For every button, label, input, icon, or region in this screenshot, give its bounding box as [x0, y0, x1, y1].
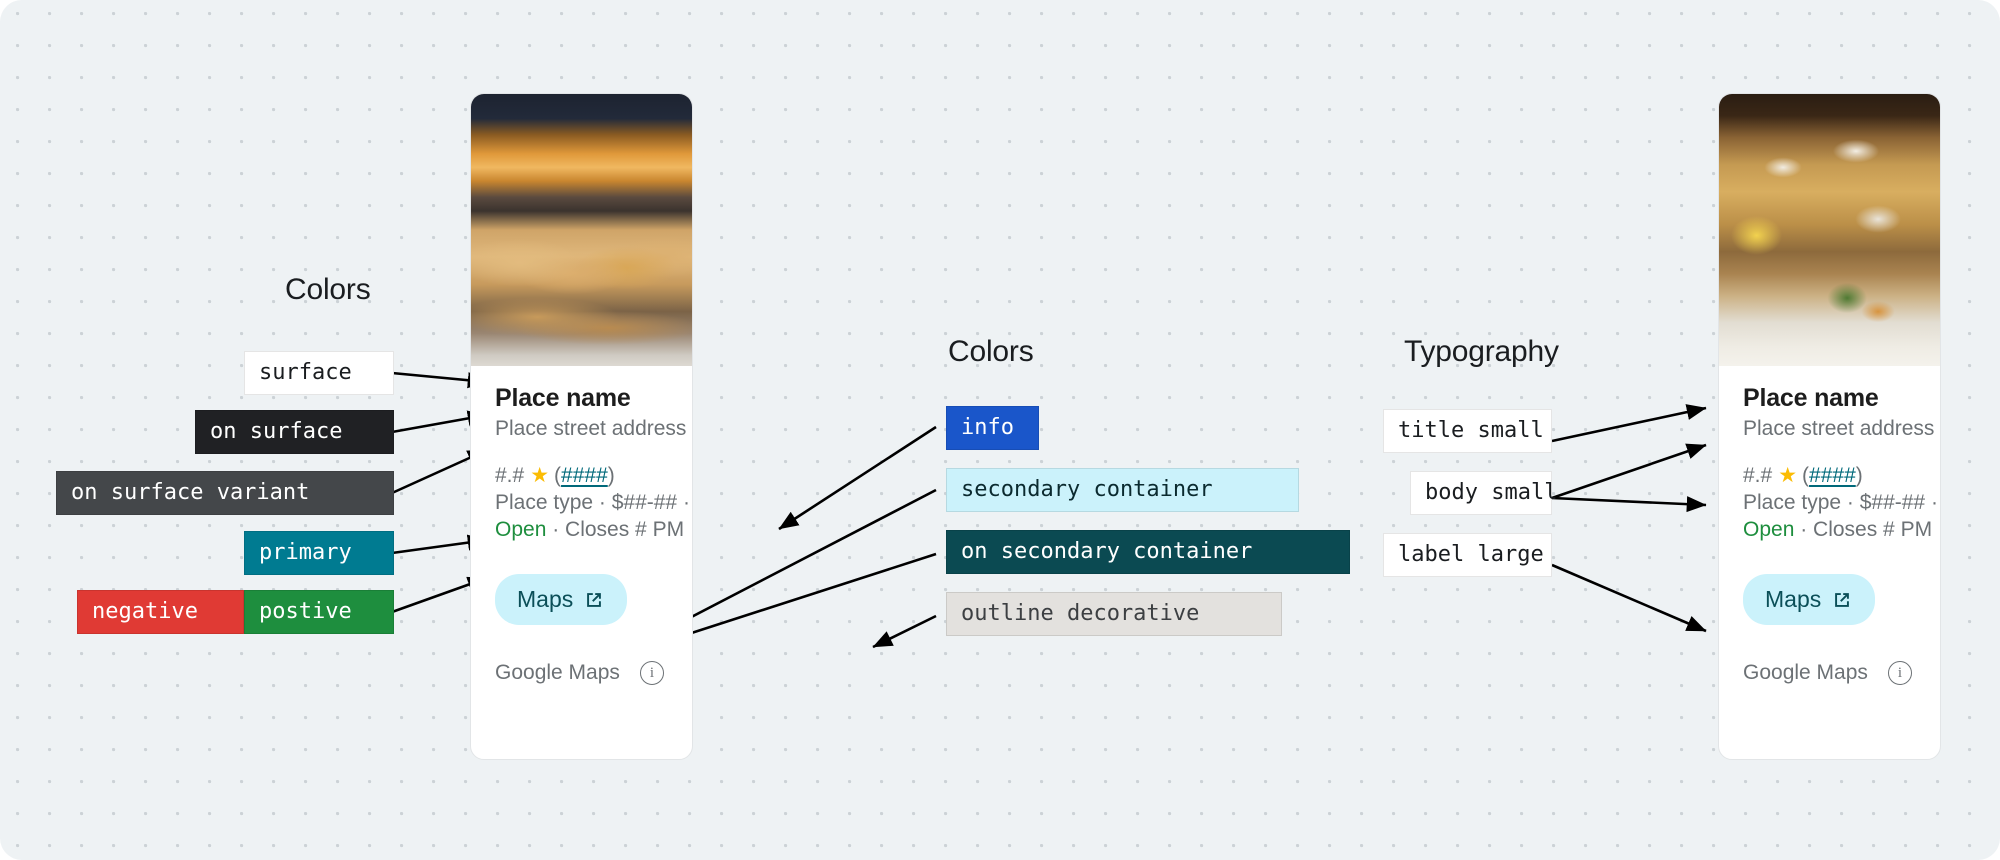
heading-colors-left: Colors [285, 273, 371, 307]
info-icon[interactable]: i [1888, 661, 1912, 685]
color-token-label: outline decorative [961, 603, 1199, 625]
place-meta-row: Place type · $##-## · ♿ [495, 491, 668, 515]
heading-colors-center: Colors [948, 335, 1034, 369]
cafe-interior-photo [1719, 94, 1940, 366]
color-token-info[interactable]: info [946, 406, 1039, 450]
type-token-label: body small [1425, 482, 1557, 504]
info-icon-glyph: i [650, 666, 654, 681]
color-token-primary[interactable]: primary [244, 531, 394, 575]
color-token-surface[interactable]: surface [244, 351, 394, 395]
place-address: Place street address [1743, 417, 1916, 441]
color-token-on-surface-variant[interactable]: on surface variant [56, 471, 394, 515]
type-token-label-large[interactable]: label large [1383, 533, 1552, 577]
place-card-left[interactable]: Place name Place street address #.# ★ (#… [470, 93, 693, 760]
place-card-right[interactable]: Place name Place street address #.# ★ (#… [1718, 93, 1941, 760]
color-token-label: on surface variant [71, 482, 309, 504]
maps-button[interactable]: Maps [495, 574, 627, 625]
attribution-label: Google Maps [495, 661, 620, 685]
card-footer-left: Google Maps i [495, 661, 668, 685]
place-rating-row: #.# ★ (####) [495, 463, 668, 488]
color-token-label: negative [92, 601, 198, 623]
place-meta-text: Place type · $##-## · [495, 491, 690, 515]
bakery-pastries-photo [471, 94, 692, 366]
place-name: Place name [495, 384, 668, 413]
star-icon: ★ [1778, 463, 1797, 488]
color-token-positive[interactable]: postive [244, 590, 394, 634]
maps-button-label: Maps [517, 586, 573, 613]
color-token-label: postive [259, 601, 352, 623]
design-spec-canvas: Colors Colors Typography surface on surf… [0, 0, 2000, 860]
type-token-title-small[interactable]: title small [1383, 409, 1552, 453]
review-count-link[interactable]: #### [1809, 464, 1856, 488]
place-meta-row: Place type · $##-## · ♿ [1743, 491, 1916, 515]
status-open: Open [1743, 518, 1794, 541]
review-open-paren: ( [554, 464, 561, 488]
color-token-negative[interactable]: negative [77, 590, 244, 634]
heading-typography: Typography [1404, 335, 1559, 369]
rating-value: #.# [495, 464, 524, 488]
type-token-body-small[interactable]: body small [1410, 471, 1552, 515]
maps-button-label: Maps [1765, 586, 1821, 613]
color-token-label: info [961, 417, 1014, 439]
place-rating-row: #.# ★ (####) [1743, 463, 1916, 488]
attribution-label: Google Maps [1743, 661, 1868, 685]
review-close-paren: ) [1856, 464, 1863, 488]
color-token-label: on secondary container [961, 541, 1252, 563]
place-meta-text: Place type · $##-## · [1743, 491, 1938, 515]
status-rest: · Closes # PM [546, 518, 684, 541]
info-icon[interactable]: i [640, 661, 664, 685]
place-address: Place street address [495, 417, 668, 441]
card-footer-right: Google Maps i [1743, 661, 1916, 685]
color-token-secondary-container[interactable]: secondary container [946, 468, 1299, 512]
color-token-on-secondary-container[interactable]: on secondary container [946, 530, 1350, 574]
place-hours-row: Open · Closes # PM [495, 518, 668, 542]
color-token-label: surface [259, 362, 352, 384]
external-link-icon [1831, 589, 1853, 611]
status-rest: · Closes # PM [1794, 518, 1932, 541]
external-link-icon [583, 589, 605, 611]
info-icon-glyph: i [1898, 666, 1902, 681]
star-icon: ★ [530, 463, 549, 488]
review-close-paren: ) [608, 464, 615, 488]
rating-value: #.# [1743, 464, 1772, 488]
type-token-label: title small [1398, 420, 1544, 442]
color-token-outline-decorative[interactable]: outline decorative [946, 592, 1282, 636]
color-token-label: primary [259, 542, 352, 564]
review-open-paren: ( [1802, 464, 1809, 488]
maps-button[interactable]: Maps [1743, 574, 1875, 625]
status-open: Open [495, 518, 546, 541]
place-name: Place name [1743, 384, 1916, 413]
color-token-label: on surface [210, 421, 342, 443]
place-hours-row: Open · Closes # PM [1743, 518, 1916, 542]
review-count-link[interactable]: #### [561, 464, 608, 488]
color-token-label: secondary container [961, 479, 1213, 501]
color-token-on-surface[interactable]: on surface [195, 410, 394, 454]
type-token-label: label large [1398, 544, 1544, 566]
